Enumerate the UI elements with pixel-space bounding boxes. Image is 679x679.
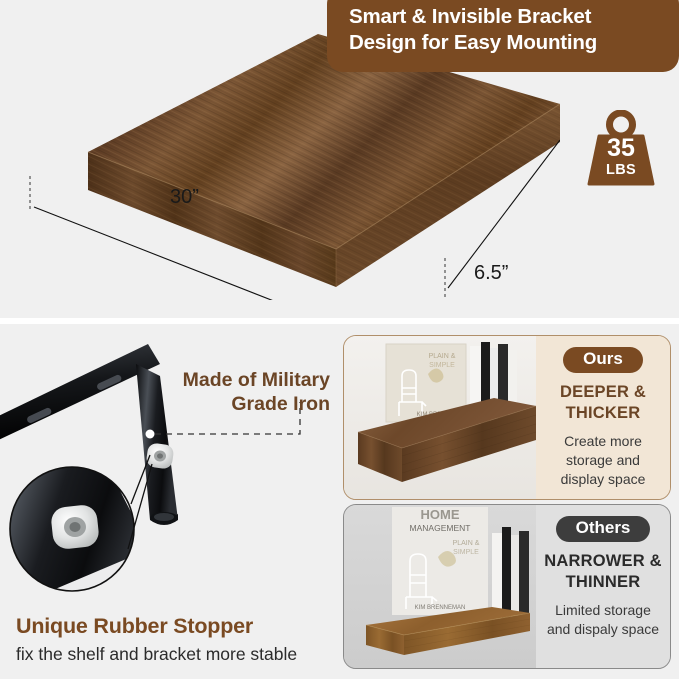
header-title-line1: Smart & Invisible Bracket (349, 4, 665, 30)
material-title: Made of Military Grade Iron (120, 368, 330, 417)
others-shelf-photo: HOME MANAGEMENT PLAIN & SIMPLE KIM BRENN… (344, 505, 536, 668)
ours-info: Ours DEEPER & THICKER Create more storag… (536, 336, 670, 499)
others-headline-line2: THINNER (544, 572, 662, 593)
stopper-title: Unique Rubber Stopper (16, 614, 253, 639)
svg-text:KIM BRENNEMAN: KIM BRENNEMAN (415, 605, 466, 611)
others-headline-line1: NARROWER & (544, 551, 662, 572)
header-title-line2: Design for Easy Mounting (349, 30, 665, 56)
svg-text:PLAIN &: PLAIN & (429, 353, 456, 360)
product-infographic: 30” 6.5” Smart & Invisible Bracket Desig… (0, 0, 679, 679)
features-section: Made of Military Grade Iron Unique Rubbe… (0, 324, 679, 679)
ours-photo: PLAIN & SIMPLE KIM BRENNEMAN (344, 336, 536, 499)
comparison-card-ours: PLAIN & SIMPLE KIM BRENNEMAN (343, 335, 671, 500)
hero-section: 30” 6.5” Smart & Invisible Bracket Desig… (0, 0, 679, 318)
others-photo: HOME MANAGEMENT PLAIN & SIMPLE KIM BRENN… (344, 505, 536, 668)
svg-text:SIMPLE: SIMPLE (429, 362, 455, 369)
material-title-line1: Made of Military (120, 368, 330, 392)
svg-text:HOME: HOME (421, 507, 460, 522)
ours-headline-line1: DEEPER & (544, 382, 662, 403)
dimension-depth-label: 6.5” (474, 262, 508, 285)
ours-shelf-photo: PLAIN & SIMPLE KIM BRENNEMAN (344, 336, 536, 499)
header-banner: Smart & Invisible Bracket Design for Eas… (327, 0, 679, 72)
others-headline: NARROWER & THINNER (544, 551, 662, 593)
dimension-width-label: 30” (170, 186, 199, 209)
ours-headline: DEEPER & THICKER (544, 382, 662, 424)
weight-capacity-badge: 35 LBS (583, 110, 659, 190)
svg-text:PLAIN &: PLAIN & (453, 540, 480, 547)
svg-text:MANAGEMENT: MANAGEMENT (410, 523, 471, 533)
others-info: Others NARROWER & THINNER Limited storag… (536, 505, 670, 668)
material-title-line2: Grade Iron (120, 392, 330, 416)
svg-text:SIMPLE: SIMPLE (453, 549, 479, 556)
comparison-card-others: HOME MANAGEMENT PLAIN & SIMPLE KIM BRENN… (343, 504, 671, 669)
others-description: Limited storage and dispaly space (544, 601, 662, 639)
weight-icon (583, 110, 659, 190)
others-badge: Others (556, 516, 651, 542)
ours-badge: Ours (563, 347, 643, 373)
stopper-subtitle: fix the shelf and bracket more stable (16, 644, 297, 665)
ours-headline-line2: THICKER (544, 403, 662, 424)
ours-description: Create more storage and display space (544, 432, 662, 489)
